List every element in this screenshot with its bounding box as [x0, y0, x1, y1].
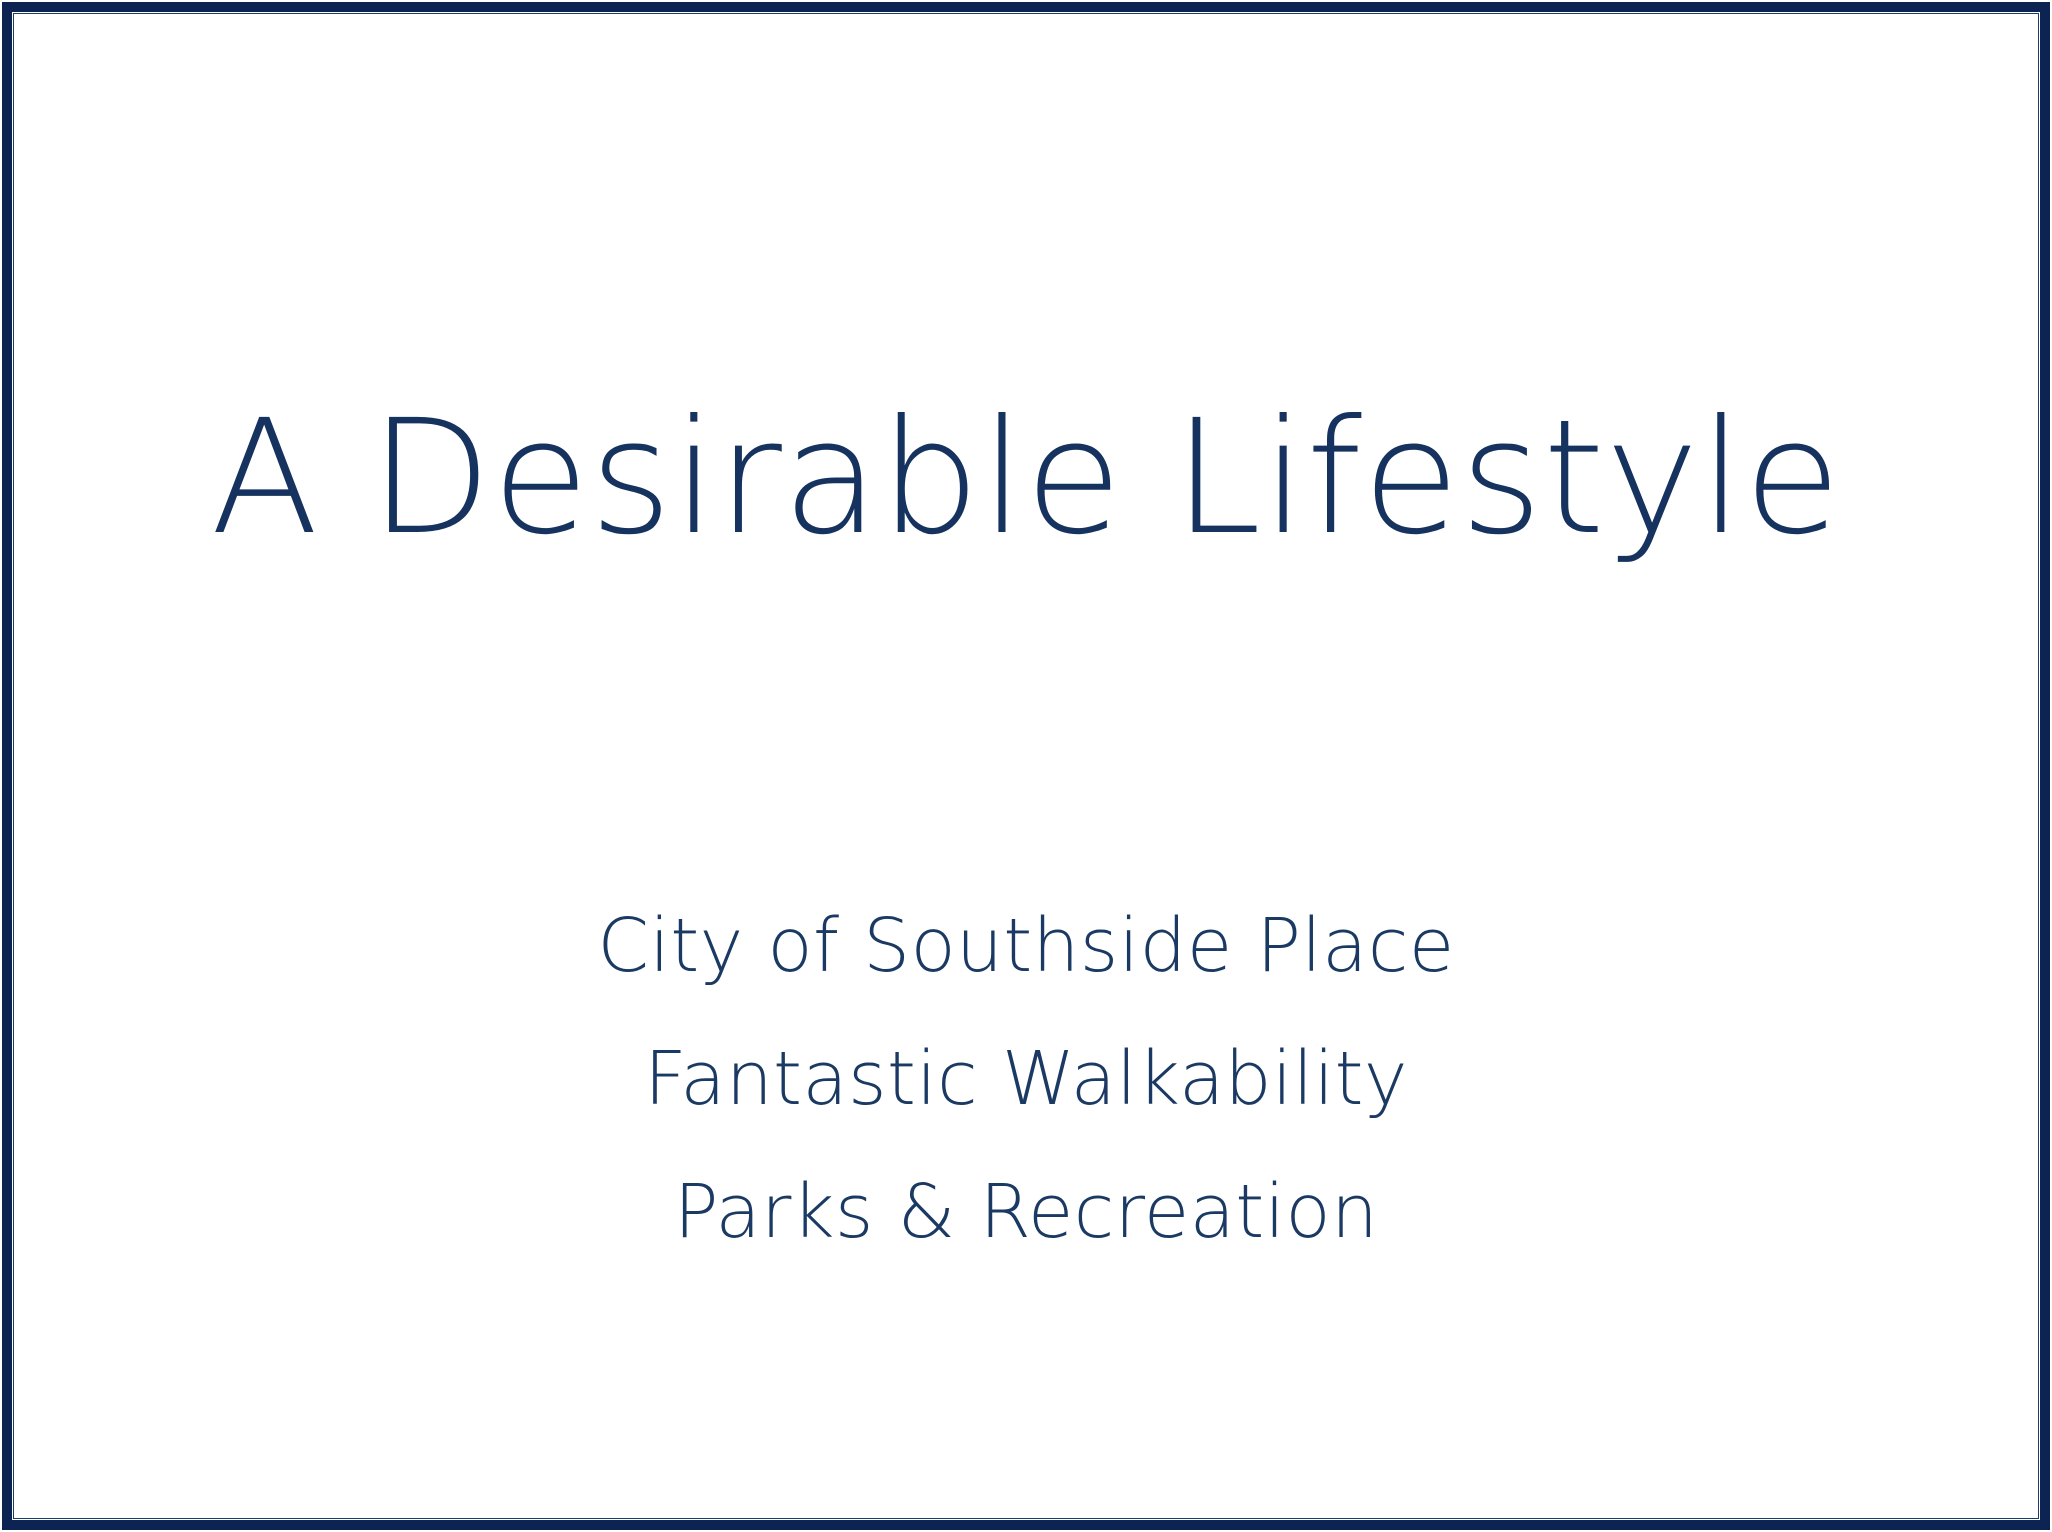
slide-content: A Desirable Lifestyle City of Southside … [0, 0, 2052, 1532]
subtitle-line-3: Parks & Recreation [0, 1146, 2052, 1279]
subtitle-block: City of Southside Place Fantastic Walkab… [0, 880, 2052, 1279]
title-block: A Desirable Lifestyle [0, 395, 2052, 562]
subtitle-line-1: City of Southside Place [0, 880, 2052, 1013]
slide-title: A Desirable Lifestyle [0, 395, 2052, 562]
subtitle-line-2: Fantastic Walkability [0, 1013, 2052, 1146]
presentation-slide: A Desirable Lifestyle City of Southside … [0, 0, 2052, 1532]
